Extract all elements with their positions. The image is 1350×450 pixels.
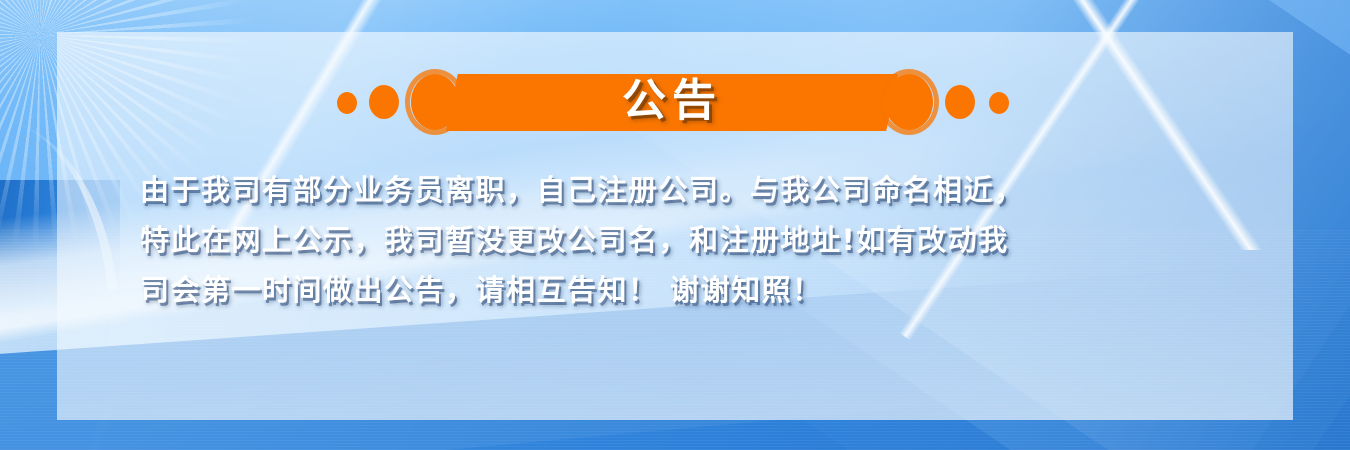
- orange-dot-small-right-icon: [989, 92, 1009, 114]
- announcement-banner: 公告 由于我司有部分业务员离职，自己注册公司。与我公司命名相近， 特此在网上公示…: [0, 0, 1350, 450]
- announcement-line: 司会第一时间做出公告，请相互告知！ 谢谢知照！: [140, 265, 1230, 315]
- announcement-body: 由于我司有部分业务员离职，自己注册公司。与我公司命名相近， 特此在网上公示，我司…: [140, 165, 1230, 315]
- page-title: 公告: [622, 79, 722, 126]
- announcement-line: 由于我司有部分业务员离职，自己注册公司。与我公司命名相近，: [140, 165, 1230, 215]
- orange-dot-large-right-icon: [885, 74, 933, 130]
- title-strip: 公告: [0, 22, 1350, 102]
- orange-dot-medium-left-icon: [369, 85, 399, 119]
- orange-dot-medium-right-icon: [945, 85, 975, 119]
- announcement-line: 特此在网上公示，我司暂没更改公司名，和注册地址!如有改动我: [140, 215, 1230, 265]
- orange-dot-small-left-icon: [337, 92, 357, 114]
- title-bar: 公告: [446, 74, 898, 131]
